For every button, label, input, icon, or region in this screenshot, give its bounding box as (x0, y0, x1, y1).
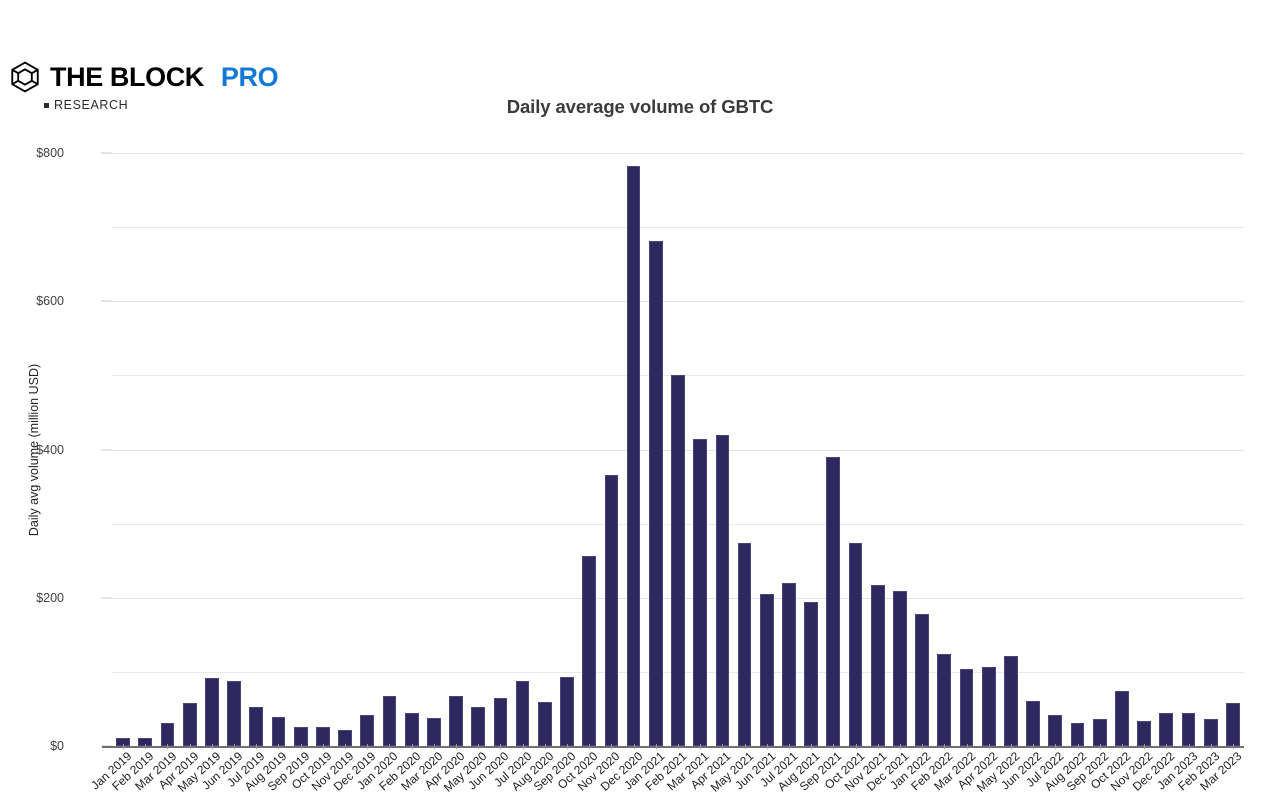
chart-title: Daily average volume of GBTC (0, 96, 1280, 118)
bar (649, 241, 663, 746)
y-axis-tick-mark (101, 153, 112, 154)
bar (782, 583, 796, 746)
bar (1004, 656, 1018, 746)
bar (760, 594, 774, 746)
bar (671, 375, 685, 746)
bar (893, 591, 907, 746)
x-axis-tick-mark (323, 744, 324, 749)
x-axis-tick-mark (767, 744, 768, 749)
bar (849, 543, 863, 746)
x-axis-tick-mark (989, 744, 990, 749)
x-axis-baseline (102, 746, 1244, 748)
bar (804, 602, 818, 746)
chart-plot-area: $0$200$400$600$800 (112, 153, 1244, 746)
bar (516, 681, 530, 746)
bar (582, 556, 596, 746)
x-axis-tick-mark (212, 744, 213, 749)
x-axis-tick-mark (878, 744, 879, 749)
bar (627, 166, 641, 746)
bar (538, 702, 552, 746)
bar (937, 654, 951, 746)
bar (915, 614, 929, 746)
x-axis-tick-mark (656, 744, 657, 749)
brand-name-primary: THE BLOCK (50, 64, 204, 91)
bar (161, 723, 175, 746)
bar (693, 439, 707, 746)
bar (1159, 713, 1173, 746)
y-axis-tick-mark (101, 449, 112, 450)
y-axis-tick-label: $800 (0, 146, 64, 160)
x-axis-tick-mark (190, 744, 191, 749)
brand-name-accent: PRO (221, 64, 278, 91)
bar (1204, 719, 1218, 746)
x-axis-tick-mark (1189, 744, 1190, 749)
x-axis-tick-mark (1211, 744, 1212, 749)
x-axis-tick-mark (545, 744, 546, 749)
bar (383, 696, 397, 746)
y-axis-tick-label: $600 (0, 294, 64, 308)
block-cube-icon (8, 60, 42, 94)
bar (605, 475, 619, 746)
bar (1048, 715, 1062, 746)
bar (471, 707, 485, 746)
bar (427, 718, 441, 746)
bar (449, 696, 463, 746)
y-axis-tick-label: $0 (0, 739, 64, 753)
bar (494, 698, 508, 746)
y-axis-tick-mark (101, 301, 112, 302)
bar (716, 435, 730, 746)
x-axis-tick-mark (856, 744, 857, 749)
x-axis-tick-mark (301, 744, 302, 749)
x-axis-tick-mark (523, 744, 524, 749)
x-axis-tick-mark (745, 744, 746, 749)
bar (871, 585, 885, 746)
bar (405, 713, 419, 746)
bar (183, 703, 197, 746)
bar (1182, 713, 1196, 746)
y-axis-tick-label: $200 (0, 591, 64, 605)
x-axis-tick-mark (967, 744, 968, 749)
bar (1093, 719, 1107, 746)
bar-series-gbtc-daily-volume (112, 153, 1244, 746)
bar (560, 677, 574, 746)
bar (205, 678, 219, 746)
x-axis-ticks-group: Jan 2019Feb 2019Mar 2019Apr 2019May 2019… (112, 749, 1244, 791)
bar (272, 717, 286, 746)
bar (227, 681, 241, 746)
y-axis-tick-label: $400 (0, 443, 64, 457)
bar (982, 667, 996, 746)
bar (360, 715, 374, 746)
x-axis-tick-mark (634, 744, 635, 749)
x-axis-tick-mark (1100, 744, 1101, 749)
bar (1115, 691, 1129, 746)
bar (960, 669, 974, 746)
bar (1226, 703, 1240, 746)
bar (738, 543, 752, 746)
bar (249, 707, 263, 746)
bar (1026, 701, 1040, 746)
x-axis-tick-mark (167, 744, 168, 749)
x-axis-tick-mark (1078, 744, 1079, 749)
bar (1137, 721, 1151, 746)
y-axis-tick-mark (101, 597, 112, 598)
x-axis-tick-mark (412, 744, 413, 749)
bar (1071, 723, 1085, 746)
bar (826, 457, 840, 746)
brand-title-row: THE BLOCK PRO (8, 60, 278, 94)
x-axis-tick-mark (434, 744, 435, 749)
